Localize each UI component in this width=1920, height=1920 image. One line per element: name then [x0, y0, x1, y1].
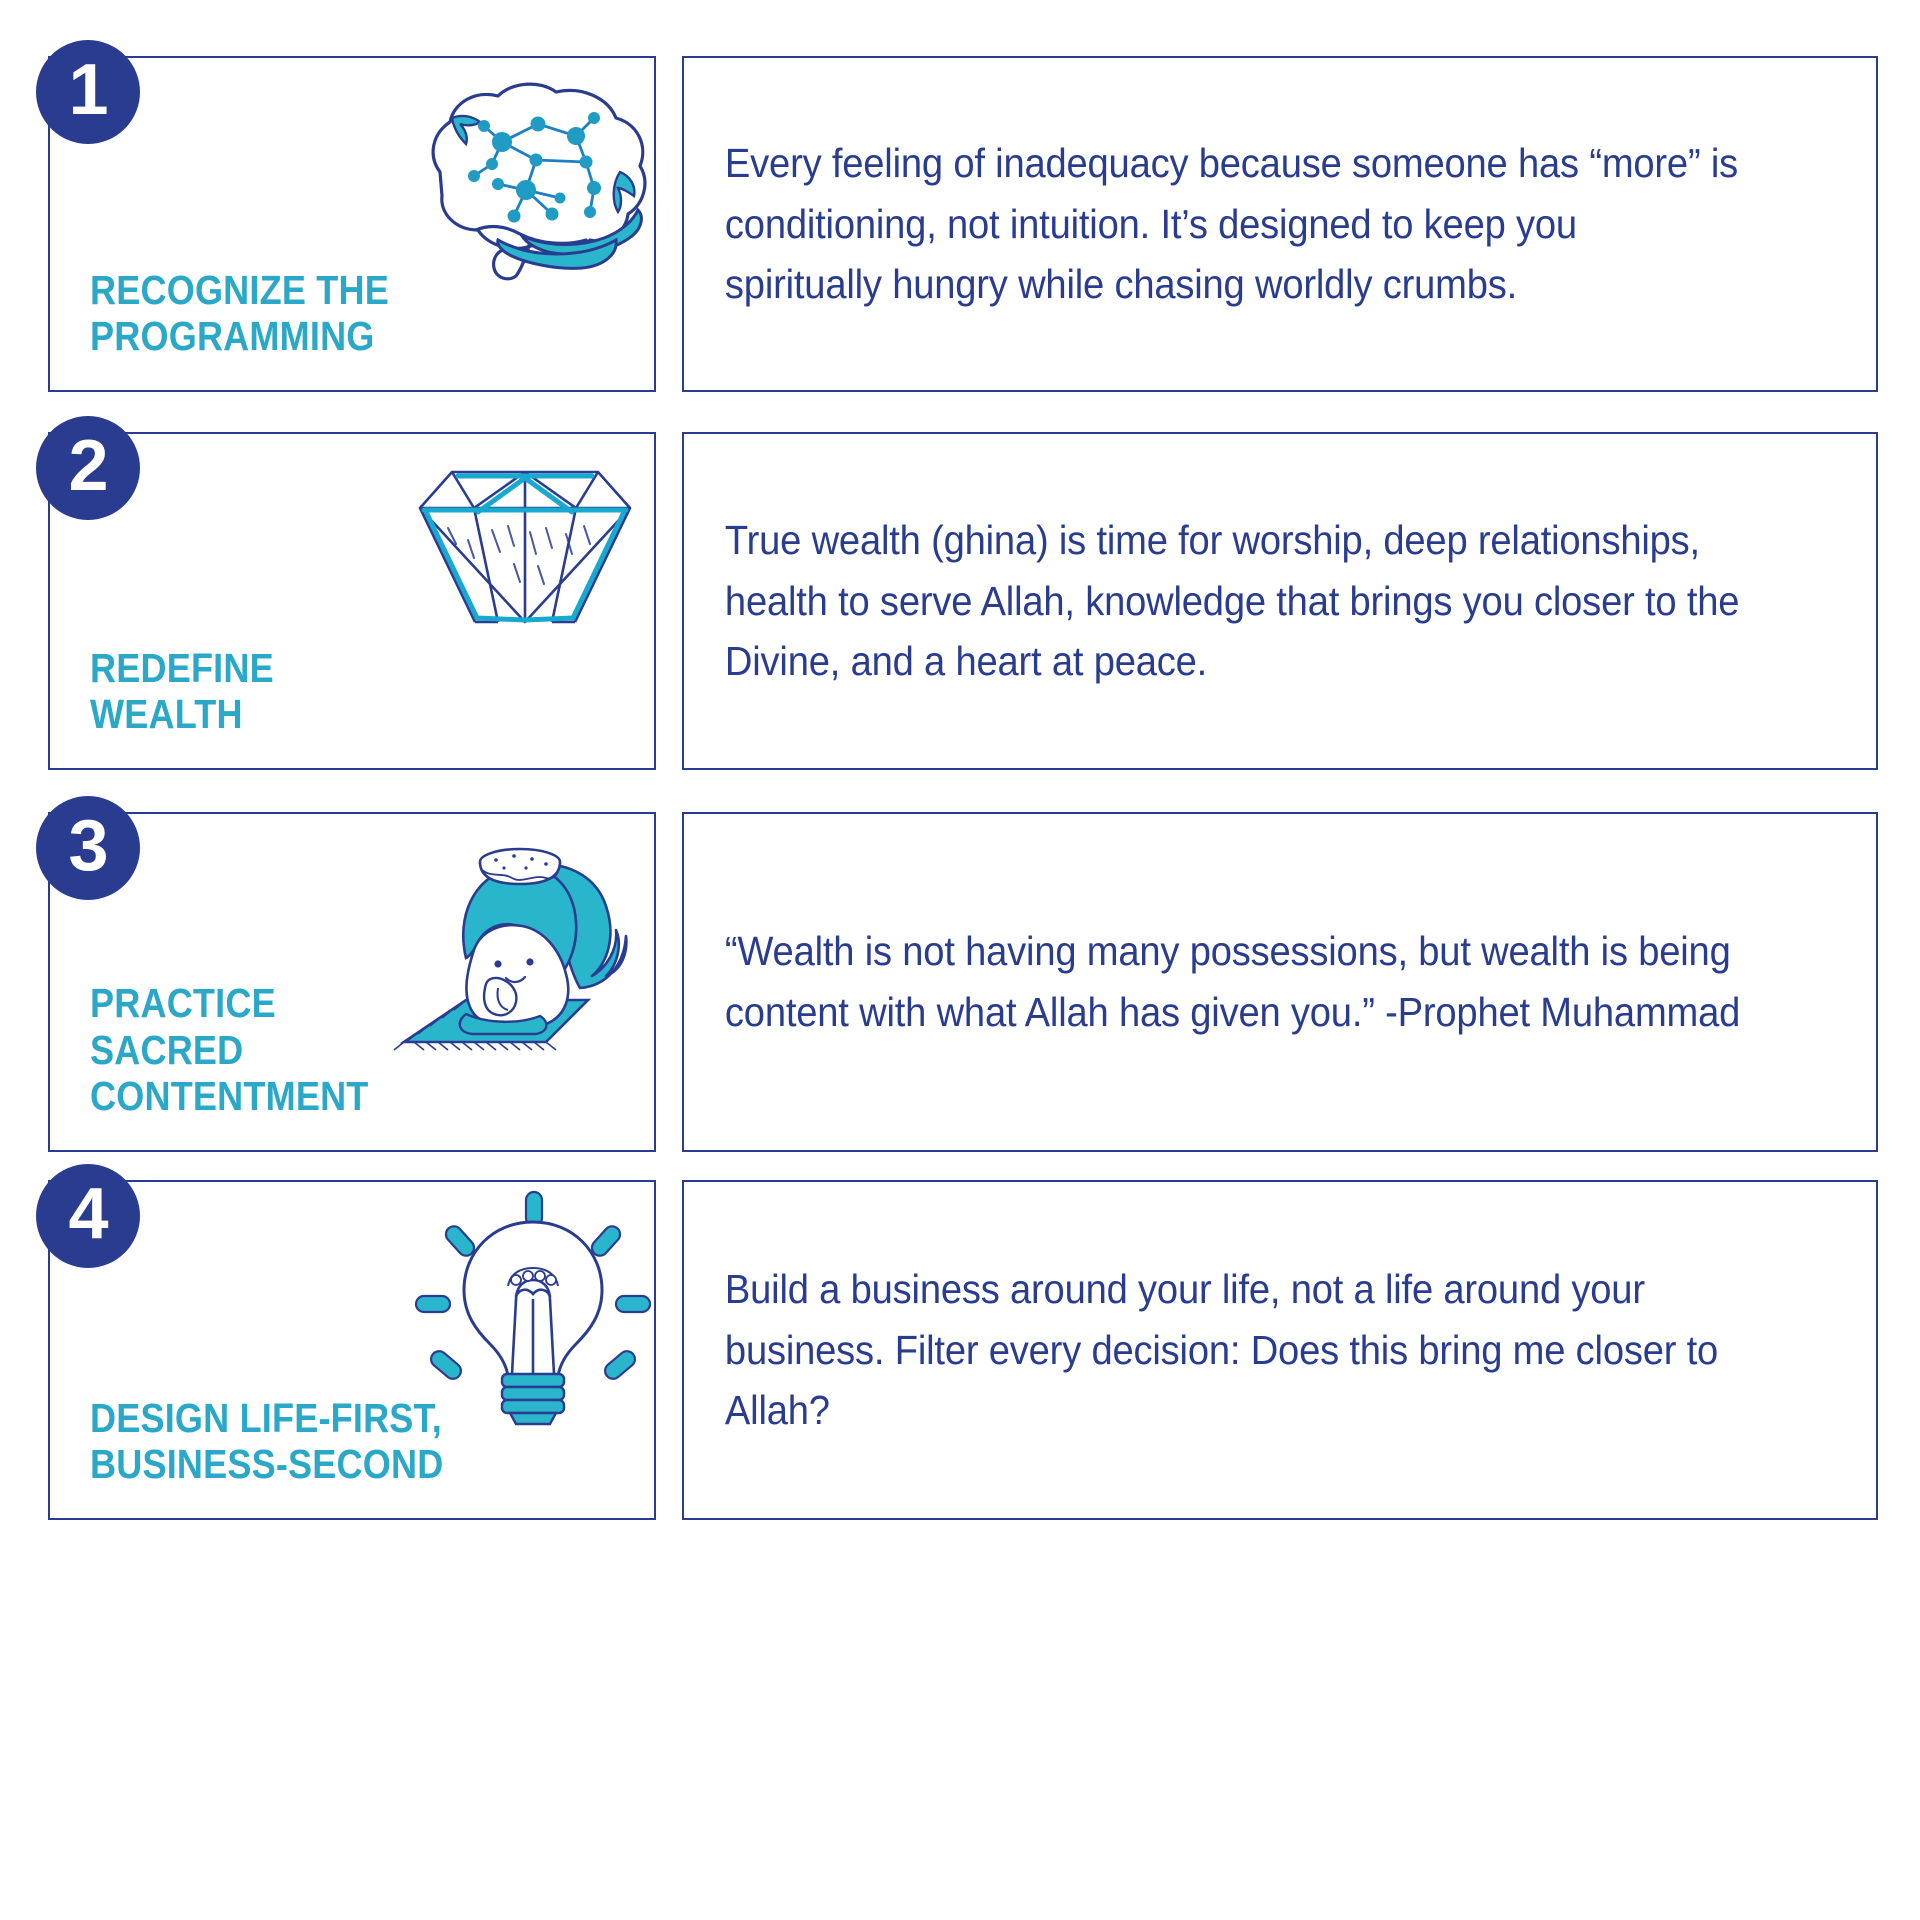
infographic-page: 1	[0, 0, 1920, 1920]
step-3-title-card: 3	[48, 812, 656, 1152]
brain-network-icon	[380, 64, 680, 289]
step-row-1: 1	[0, 56, 1920, 392]
step-4-body-text: Build a business around your life, not a…	[684, 1259, 1793, 1441]
step-3-description-card: “Wealth is not having many possessions, …	[682, 812, 1878, 1152]
step-2-body-text: True wealth (ghina) is time for worship,…	[684, 510, 1793, 692]
step-3-heading: PRACTICE SACRED CONTENTMENT	[90, 980, 369, 1120]
step-row-2: 2	[0, 432, 1920, 770]
step-1-body-text: Every feeling of inadequacy because some…	[684, 133, 1793, 315]
step-row-3: 3	[0, 812, 1920, 1152]
diamond-gem-icon	[380, 446, 670, 646]
step-2-description-card: True wealth (ghina) is time for worship,…	[682, 432, 1878, 770]
step-2-title-card: 2	[48, 432, 656, 770]
step-row-4: 4	[0, 1180, 1920, 1520]
step-number-badge-3: 3	[36, 796, 140, 900]
step-4-heading: DESIGN LIFE-FIRST, BUSINESS-SECOND	[90, 1395, 443, 1488]
step-3-body-text: “Wealth is not having many possessions, …	[684, 921, 1793, 1042]
lightbulb-idea-icon	[398, 1188, 668, 1428]
meditating-person-icon	[370, 818, 670, 1068]
step-number-badge-4: 4	[36, 1164, 140, 1268]
step-number-badge-2: 2	[36, 416, 140, 520]
step-4-description-card: Build a business around your life, not a…	[682, 1180, 1878, 1520]
step-2-heading: REDEFINE WEALTH	[90, 645, 274, 738]
step-number-badge-1: 1	[36, 40, 140, 144]
step-1-heading: RECOGNIZE THE PROGRAMMING	[90, 267, 389, 360]
step-1-description-card: Every feeling of inadequacy because some…	[682, 56, 1878, 392]
step-4-title-card: 4	[48, 1180, 656, 1520]
step-1-title-card: 1	[48, 56, 656, 392]
